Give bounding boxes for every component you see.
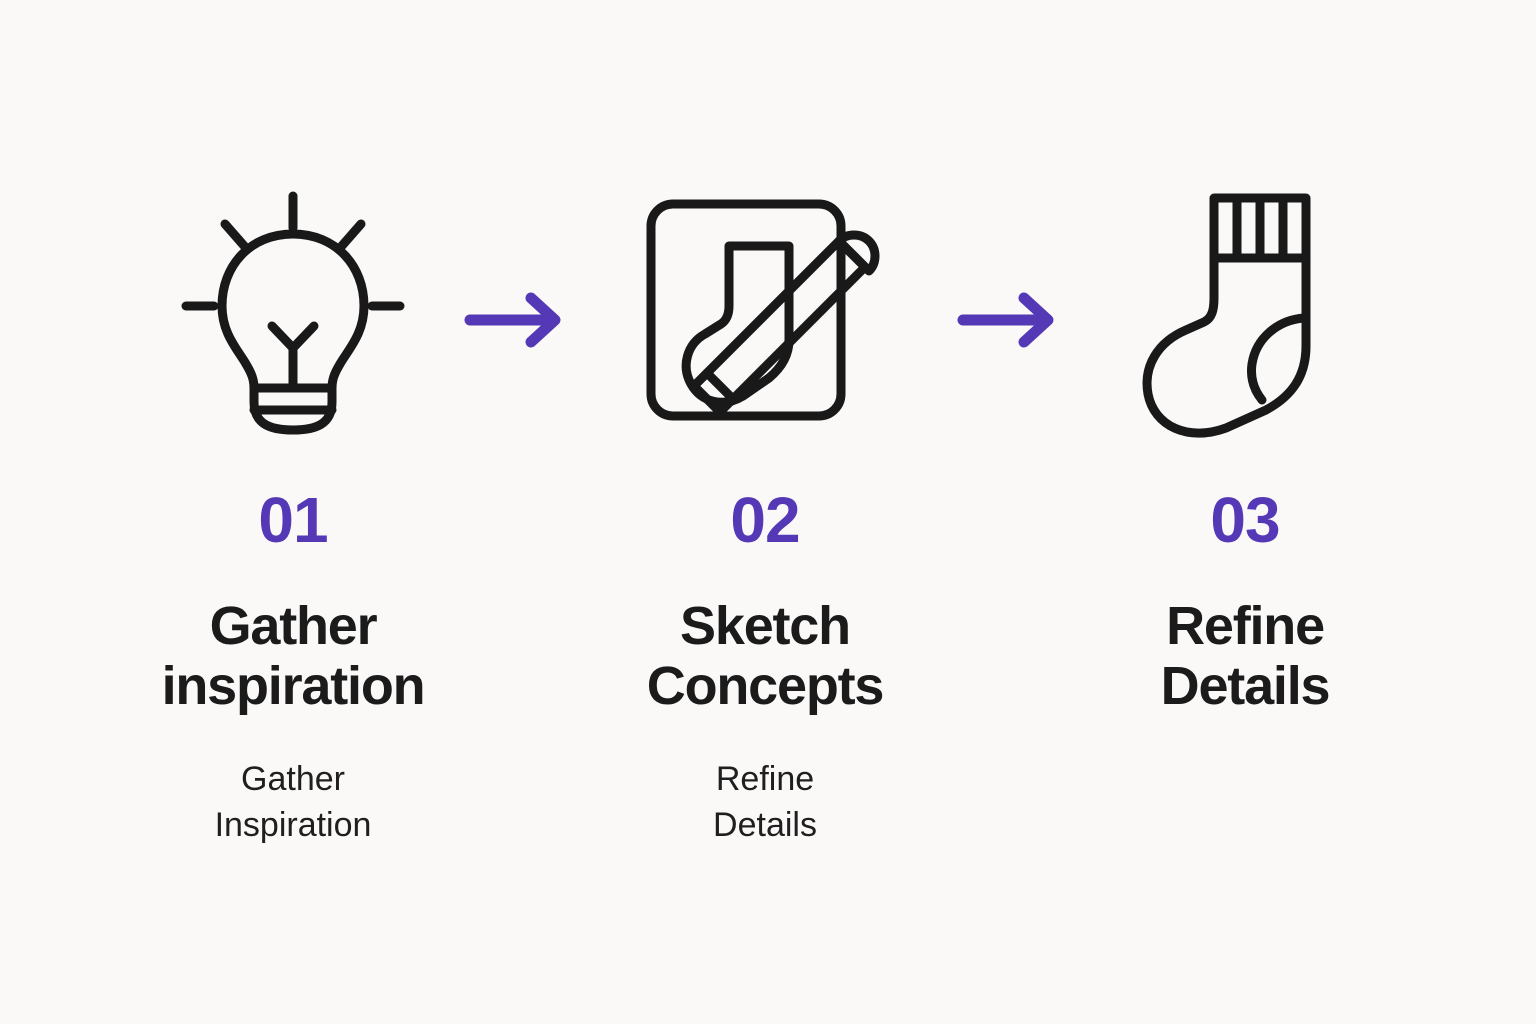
step-card-2: 02 Sketch Concepts Refine Details (600, 185, 930, 849)
step-number: 02 (730, 488, 799, 552)
sock-icon (1120, 185, 1370, 440)
step-title: Sketch Concepts (647, 596, 883, 717)
step-card-3: 03 Refine Details (1080, 185, 1410, 717)
step-title: Gather inspiration (162, 596, 425, 717)
step-title: Refine Details (1161, 596, 1330, 717)
arrow-right-icon (462, 292, 572, 348)
infographic-canvas: 01 Gather inspiration Gather Inspiration (0, 0, 1536, 1024)
sketchpad-pencil-icon (640, 185, 890, 440)
step-number: 01 (258, 488, 327, 552)
step-number: 03 (1210, 488, 1279, 552)
arrow-right-icon (955, 292, 1065, 348)
step-card-1: 01 Gather inspiration Gather Inspiration (128, 185, 458, 849)
step-subtitle: Gather Inspiration (215, 757, 372, 849)
lightbulb-icon (168, 185, 418, 440)
step-subtitle: Refine Details (713, 757, 817, 849)
